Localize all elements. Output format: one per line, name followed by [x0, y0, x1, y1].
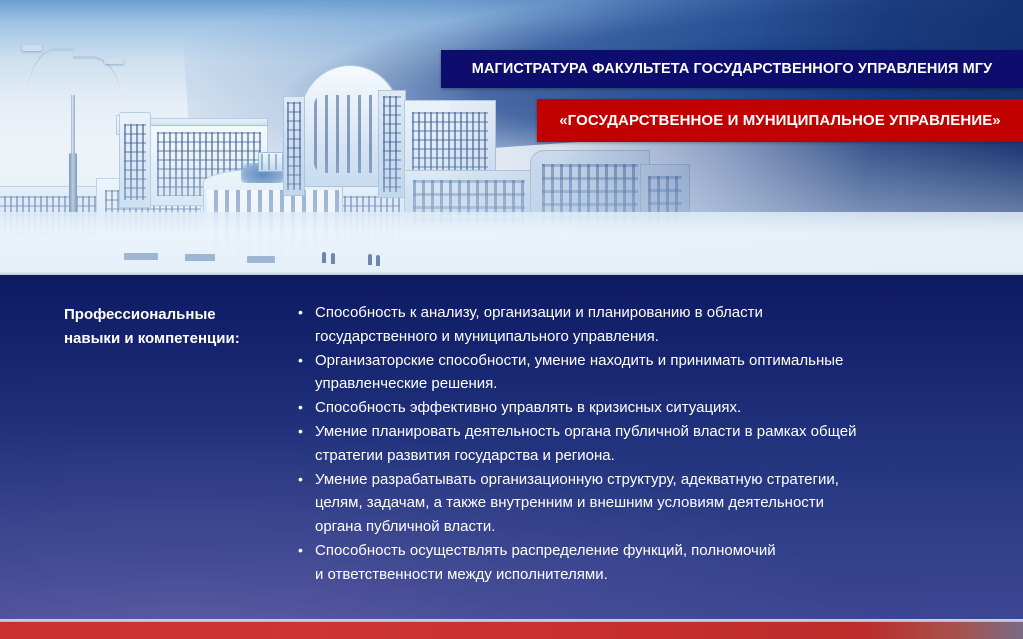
banner-program-title-text: «ГОСУДАРСТВЕННОЕ И МУНИЦИПАЛЬНОЕ УПРАВЛЕ…	[559, 112, 1001, 129]
competency-line: целям, задачам, а также внутренним и вне…	[315, 491, 986, 515]
pedestrian-figure	[368, 254, 372, 265]
section-label-line1: Профессиональные	[64, 303, 279, 327]
competency-line: Способность осуществлять распределение ф…	[315, 539, 986, 563]
competency-line: Умение разрабатывать организационную стр…	[315, 468, 986, 492]
banner-program-faculty: МАГИСТРАТУРА ФАКУЛЬТЕТА ГОСУДАРСТВЕННОГО…	[441, 50, 1023, 88]
competency-line: Способность к анализу, организации и пла…	[315, 301, 986, 325]
competency-list-item: Способность к анализу, организации и пла…	[296, 301, 986, 349]
competency-line: Способность эффективно управлять в кризи…	[315, 396, 986, 420]
footer-red-stripe	[0, 622, 1023, 639]
banner-program-title: «ГОСУДАРСТВЕННОЕ И МУНИЦИПАЛЬНОЕ УПРАВЛЕ…	[537, 99, 1023, 142]
competency-list-item: Способность осуществлять распределение ф…	[296, 539, 986, 587]
competency-line: государственного и муниципального управл…	[315, 325, 986, 349]
competency-list-item: Умение разрабатывать организационную стр…	[296, 468, 986, 539]
snow-plaza	[0, 212, 1023, 274]
competency-line: Умение планировать деятельность органа п…	[315, 420, 986, 444]
competency-line: и ответственности между исполнителями.	[315, 563, 986, 587]
competency-line: стратегии развития государства и региона…	[315, 444, 986, 468]
banner-program-faculty-text: МАГИСТРАТУРА ФАКУЛЬТЕТА ГОСУДАРСТВЕННОГО…	[472, 61, 992, 77]
competency-list-item: Способность эффективно управлять в кризи…	[296, 396, 986, 420]
competency-line: управленческие решения.	[315, 372, 986, 396]
pedestrian-figure	[331, 253, 335, 264]
competency-line: органа публичной власти.	[315, 515, 986, 539]
pedestrian-figure	[376, 255, 380, 266]
competency-list-item: Умение планировать деятельность органа п…	[296, 420, 986, 468]
competency-list: Способность к анализу, организации и пла…	[296, 301, 986, 587]
plaza-bench	[185, 254, 215, 261]
building-main-cornice	[150, 118, 268, 126]
street-lamp-head-left	[22, 45, 42, 51]
section-label: Профессиональные навыки и компетенции:	[64, 303, 279, 351]
competency-list-item: Организаторские способности, умение нахо…	[296, 349, 986, 397]
competency-line: Организаторские способности, умение нахо…	[315, 349, 986, 373]
plaza-bench	[247, 256, 275, 263]
street-lamp-head-right	[104, 58, 124, 64]
plaza-bench	[124, 253, 158, 260]
presentation-slide: МАГИСТРАТУРА ФАКУЛЬТЕТА ГОСУДАРСТВЕННОГО…	[0, 0, 1023, 639]
section-label-line2: навыки и компетенции:	[64, 327, 279, 351]
pedestrian-figure	[322, 252, 326, 263]
